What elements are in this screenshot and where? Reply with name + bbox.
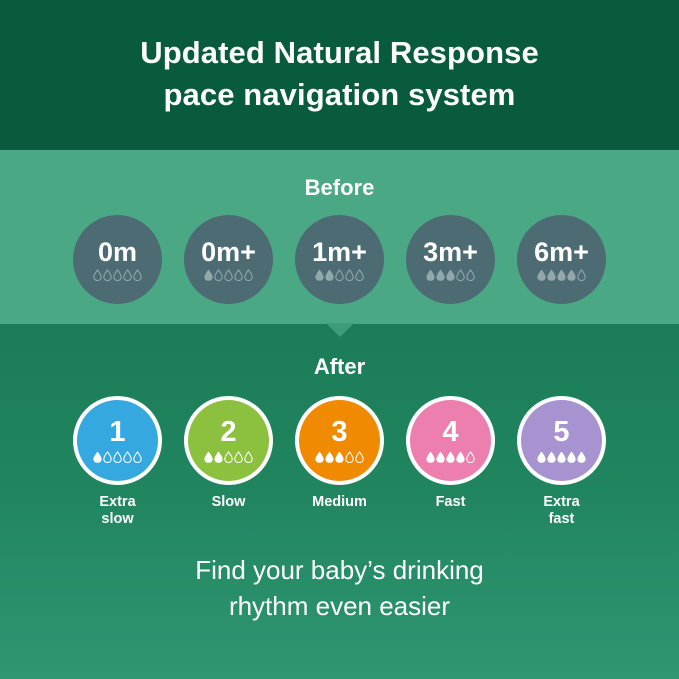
droplet-empty-icon xyxy=(113,451,122,463)
droplet-filled-icon xyxy=(204,269,213,281)
before-flow-item: 6m+ xyxy=(517,215,606,304)
droplet-empty-icon xyxy=(103,269,112,281)
page-title: Updated Natural Response pace navigation… xyxy=(0,32,679,116)
droplet-empty-icon xyxy=(466,269,475,281)
droplet-filled-icon xyxy=(567,451,576,463)
droplet-filled-icon xyxy=(426,269,435,281)
footer-tagline-line-1: Find your baby’s drinking xyxy=(0,552,679,588)
after-flow-caption: Extraslow xyxy=(99,494,135,528)
droplet-empty-icon xyxy=(456,269,465,281)
before-flow-circle: 0m xyxy=(73,215,162,304)
droplet-filled-icon xyxy=(446,451,455,463)
droplet-filled-icon xyxy=(93,451,102,463)
after-flow-circle: 2 xyxy=(184,396,273,485)
after-flow-caption-line-2: slow xyxy=(99,511,135,528)
droplet-empty-icon xyxy=(103,451,112,463)
after-flow-item: 1Extraslow xyxy=(73,396,162,528)
droplet-empty-icon xyxy=(577,269,586,281)
droplet-filled-icon xyxy=(315,451,324,463)
droplet-filled-icon xyxy=(204,451,213,463)
before-flow-label: 3m+ xyxy=(423,239,478,266)
page-title-line-1: Updated Natural Response xyxy=(0,32,679,74)
before-flow-droplets xyxy=(537,269,586,281)
after-flow-caption-line-1: Extra xyxy=(543,494,579,511)
droplet-filled-icon xyxy=(547,269,556,281)
after-flow-droplets xyxy=(537,451,586,463)
droplet-empty-icon xyxy=(224,451,233,463)
before-flow-circle: 0m+ xyxy=(184,215,273,304)
after-flow-caption-line-1: Fast xyxy=(436,494,466,511)
after-flow-circle: 1 xyxy=(73,396,162,485)
before-section-label: Before xyxy=(0,175,679,201)
before-flow-label: 6m+ xyxy=(534,239,589,266)
droplet-empty-icon xyxy=(93,269,102,281)
after-flow-number: 1 xyxy=(109,418,125,447)
footer-tagline: Find your baby’s drinking rhythm even ea… xyxy=(0,552,679,624)
arrow-down-icon xyxy=(326,323,354,337)
before-flow-droplets xyxy=(204,269,253,281)
after-flow-caption: Extrafast xyxy=(543,494,579,528)
droplet-filled-icon xyxy=(557,269,566,281)
after-flow-caption-line-2: fast xyxy=(543,511,579,528)
after-flow-circle: 4 xyxy=(406,396,495,485)
droplet-empty-icon xyxy=(244,269,253,281)
before-flow-droplets xyxy=(315,269,364,281)
before-flow-droplets xyxy=(426,269,475,281)
before-flow-item: 0m+ xyxy=(184,215,273,304)
droplet-empty-icon xyxy=(355,269,364,281)
droplet-filled-icon xyxy=(577,451,586,463)
after-flow-droplets xyxy=(426,451,475,463)
footer-tagline-line-2: rhythm even easier xyxy=(0,588,679,624)
droplet-empty-icon xyxy=(335,269,344,281)
after-flow-droplets xyxy=(204,451,253,463)
before-flow-label: 0m+ xyxy=(201,239,256,266)
before-flow-item: 3m+ xyxy=(406,215,495,304)
after-flow-number: 2 xyxy=(220,418,236,447)
after-flow-circle: 5 xyxy=(517,396,606,485)
droplet-filled-icon xyxy=(446,269,455,281)
droplet-empty-icon xyxy=(345,451,354,463)
after-flow-caption: Slow xyxy=(212,494,246,511)
after-flow-item: 3Medium xyxy=(295,396,384,528)
after-flow-droplets xyxy=(93,451,142,463)
after-flow-caption-line-1: Slow xyxy=(212,494,246,511)
after-flow-rate-row: 1Extraslow2Slow3Medium4Fast5Extrafast xyxy=(0,396,679,528)
droplet-filled-icon xyxy=(426,451,435,463)
before-flow-rate-row: 0m0m+1m+3m+6m+ xyxy=(0,215,679,304)
after-flow-number: 3 xyxy=(331,418,347,447)
droplet-empty-icon xyxy=(113,269,122,281)
before-flow-circle: 3m+ xyxy=(406,215,495,304)
after-flow-caption: Medium xyxy=(312,494,367,511)
droplet-empty-icon xyxy=(133,269,142,281)
droplet-filled-icon xyxy=(325,269,334,281)
droplet-empty-icon xyxy=(133,451,142,463)
droplet-filled-icon xyxy=(436,269,445,281)
droplet-empty-icon xyxy=(244,451,253,463)
droplet-empty-icon xyxy=(234,451,243,463)
before-flow-item: 1m+ xyxy=(295,215,384,304)
after-flow-circle: 3 xyxy=(295,396,384,485)
before-flow-label: 1m+ xyxy=(312,239,367,266)
droplet-empty-icon xyxy=(355,451,364,463)
droplet-filled-icon xyxy=(214,451,223,463)
droplet-empty-icon xyxy=(224,269,233,281)
droplet-filled-icon xyxy=(547,451,556,463)
after-flow-caption-line-1: Extra xyxy=(99,494,135,511)
droplet-filled-icon xyxy=(436,451,445,463)
after-flow-number: 4 xyxy=(442,418,458,447)
before-flow-droplets xyxy=(93,269,142,281)
droplet-filled-icon xyxy=(567,269,576,281)
droplet-filled-icon xyxy=(537,269,546,281)
before-flow-circle: 6m+ xyxy=(517,215,606,304)
droplet-empty-icon xyxy=(123,451,132,463)
droplet-filled-icon xyxy=(537,451,546,463)
page-title-line-2: pace navigation system xyxy=(0,74,679,116)
droplet-empty-icon xyxy=(214,269,223,281)
droplet-filled-icon xyxy=(557,451,566,463)
after-flow-caption: Fast xyxy=(436,494,466,511)
after-section-label: After xyxy=(0,354,679,380)
droplet-filled-icon xyxy=(325,451,334,463)
after-flow-item: 2Slow xyxy=(184,396,273,528)
droplet-filled-icon xyxy=(315,269,324,281)
droplet-filled-icon xyxy=(456,451,465,463)
before-flow-label: 0m xyxy=(98,239,137,266)
droplet-empty-icon xyxy=(466,451,475,463)
after-flow-item: 5Extrafast xyxy=(517,396,606,528)
droplet-empty-icon xyxy=(234,269,243,281)
after-flow-item: 4Fast xyxy=(406,396,495,528)
droplet-filled-icon xyxy=(335,451,344,463)
after-flow-number: 5 xyxy=(553,418,569,447)
after-flow-caption-line-1: Medium xyxy=(312,494,367,511)
after-flow-droplets xyxy=(315,451,364,463)
before-flow-item: 0m xyxy=(73,215,162,304)
infographic-canvas: Updated Natural Response pace navigation… xyxy=(0,0,679,679)
before-flow-circle: 1m+ xyxy=(295,215,384,304)
droplet-empty-icon xyxy=(123,269,132,281)
droplet-empty-icon xyxy=(345,269,354,281)
